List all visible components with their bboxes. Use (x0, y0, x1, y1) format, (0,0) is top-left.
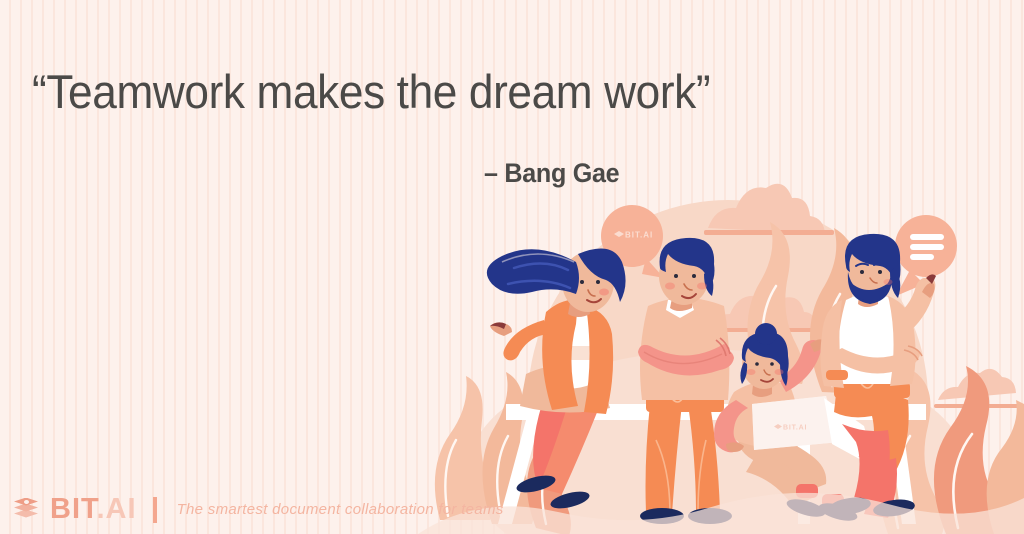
divider (153, 497, 157, 523)
quote-attribution: – Bang Gae (484, 158, 619, 189)
svg-text:BIT.AI: BIT.AI (783, 425, 807, 432)
poster-canvas: BIT.AI (0, 0, 1024, 534)
brand-bit: BIT (50, 493, 97, 525)
stacked-layers-icon (14, 498, 40, 522)
quote-text: “Teamwork makes the dream work” (32, 66, 690, 119)
brand-tagline: The smartest document collaboration for … (177, 501, 504, 518)
svg-text:BIT.AI: BIT.AI (625, 231, 653, 240)
brand-ai: .AI (97, 493, 137, 525)
footer-branding: BIT.AI The smartest document collaborati… (14, 495, 504, 524)
brand-wordmark: BIT.AI (50, 495, 137, 524)
